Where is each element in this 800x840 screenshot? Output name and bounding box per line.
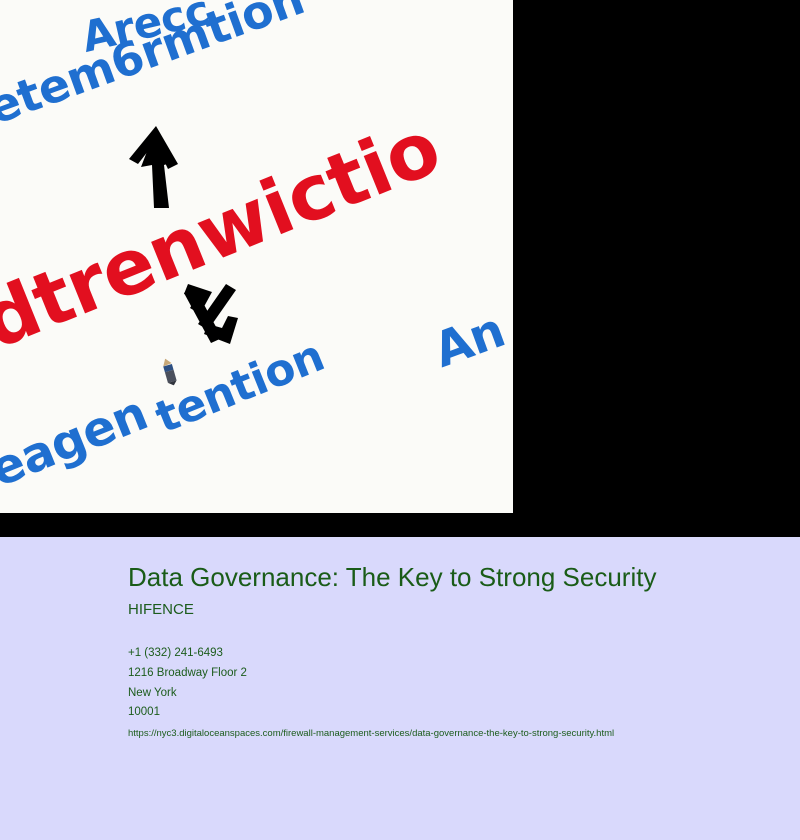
page-root: Arecc etem6rmtion dtrenwictio tention ea… [0,0,800,840]
contact-postal-code: 10001 [128,703,748,723]
info-content: Data Governance: The Key to Strong Secur… [128,563,748,739]
double-headed-arrow-icon [178,278,254,354]
contact-street: 1216 Broadway Floor 2 [128,664,748,684]
pencil-artifact-icon [159,357,179,387]
hero-image: Arecc etem6rmtion dtrenwictio tention ea… [0,0,513,513]
contact-block: +1 (332) 241-6493 1216 Broadway Floor 2 … [128,644,748,739]
info-panel: Data Governance: The Key to Strong Secur… [0,537,800,840]
source-url-link[interactable]: https://nyc3.digitaloceanspaces.com/fire… [128,728,748,739]
arrow-up-icon [122,120,202,210]
brand-name: HIFENCE [128,601,748,618]
page-title: Data Governance: The Key to Strong Secur… [128,563,688,592]
contact-city: New York [128,684,748,704]
word-art-etem6rmtion: etem6rmtion [0,0,309,131]
contact-phone: +1 (332) 241-6493 [128,644,748,664]
word-art-eagen: eagen [0,389,154,495]
hero-canvas: Arecc etem6rmtion dtrenwictio tention ea… [0,0,513,513]
word-art-an: An [428,306,511,375]
media-band: Arecc etem6rmtion dtrenwictio tention ea… [0,0,800,537]
